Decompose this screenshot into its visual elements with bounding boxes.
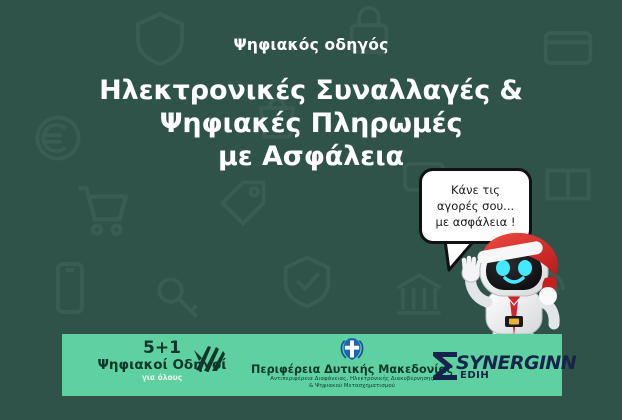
bubble-line-3: με ασφάλεια ! bbox=[422, 214, 529, 230]
poster-headline: Ηλεκτρονικές Συναλλαγές & Ψηφιακές Πληρω… bbox=[0, 74, 622, 173]
watermark-key-icon bbox=[150, 270, 206, 326]
headline-line-1: Ηλεκτρονικές Συναλλαγές & bbox=[0, 74, 622, 107]
poster-canvas: Ψηφιακός οδηγός Ηλεκτρονικές Συναλλαγές … bbox=[0, 0, 622, 420]
headline-line-2: Ψηφιακές Πληρωμές bbox=[0, 107, 622, 140]
edih-label: EDIH bbox=[460, 370, 489, 381]
pen-nib-icon bbox=[192, 344, 226, 372]
watermark-check-shield-icon bbox=[278, 252, 336, 310]
logo-5plus1-tagline: για όλους bbox=[82, 373, 242, 383]
logo-synerginn: SYNERGINN EDIH bbox=[430, 350, 558, 384]
bubble-line-1: Κάνε τις bbox=[422, 182, 529, 198]
poster-kicker: Ψηφιακός οδηγός bbox=[0, 36, 622, 54]
footer-band: 5+1 Ψηφιακοί Οδηγοί για όλους Περιφέρεια bbox=[62, 334, 562, 396]
region-subtitle-line-2: & Ψηφιακού Μετασχηματισμού bbox=[227, 383, 477, 390]
robot-torso bbox=[486, 290, 542, 336]
robot-right-arm bbox=[541, 302, 554, 324]
watermark-phone-icon bbox=[40, 258, 100, 318]
watermark-bank-icon bbox=[392, 268, 446, 322]
watermark-tag-icon bbox=[215, 175, 271, 231]
watermark-cart-icon bbox=[70, 178, 132, 240]
logo-5plus1: 5+1 Ψηφιακοί Οδηγοί για όλους bbox=[82, 340, 242, 383]
speech-bubble-text: Κάνε τις αγορές σου... με ασφάλεια ! bbox=[422, 182, 529, 230]
headline-line-3: με Ασφάλεια bbox=[0, 140, 622, 173]
bubble-line-2: αγορές σου... bbox=[422, 198, 529, 214]
